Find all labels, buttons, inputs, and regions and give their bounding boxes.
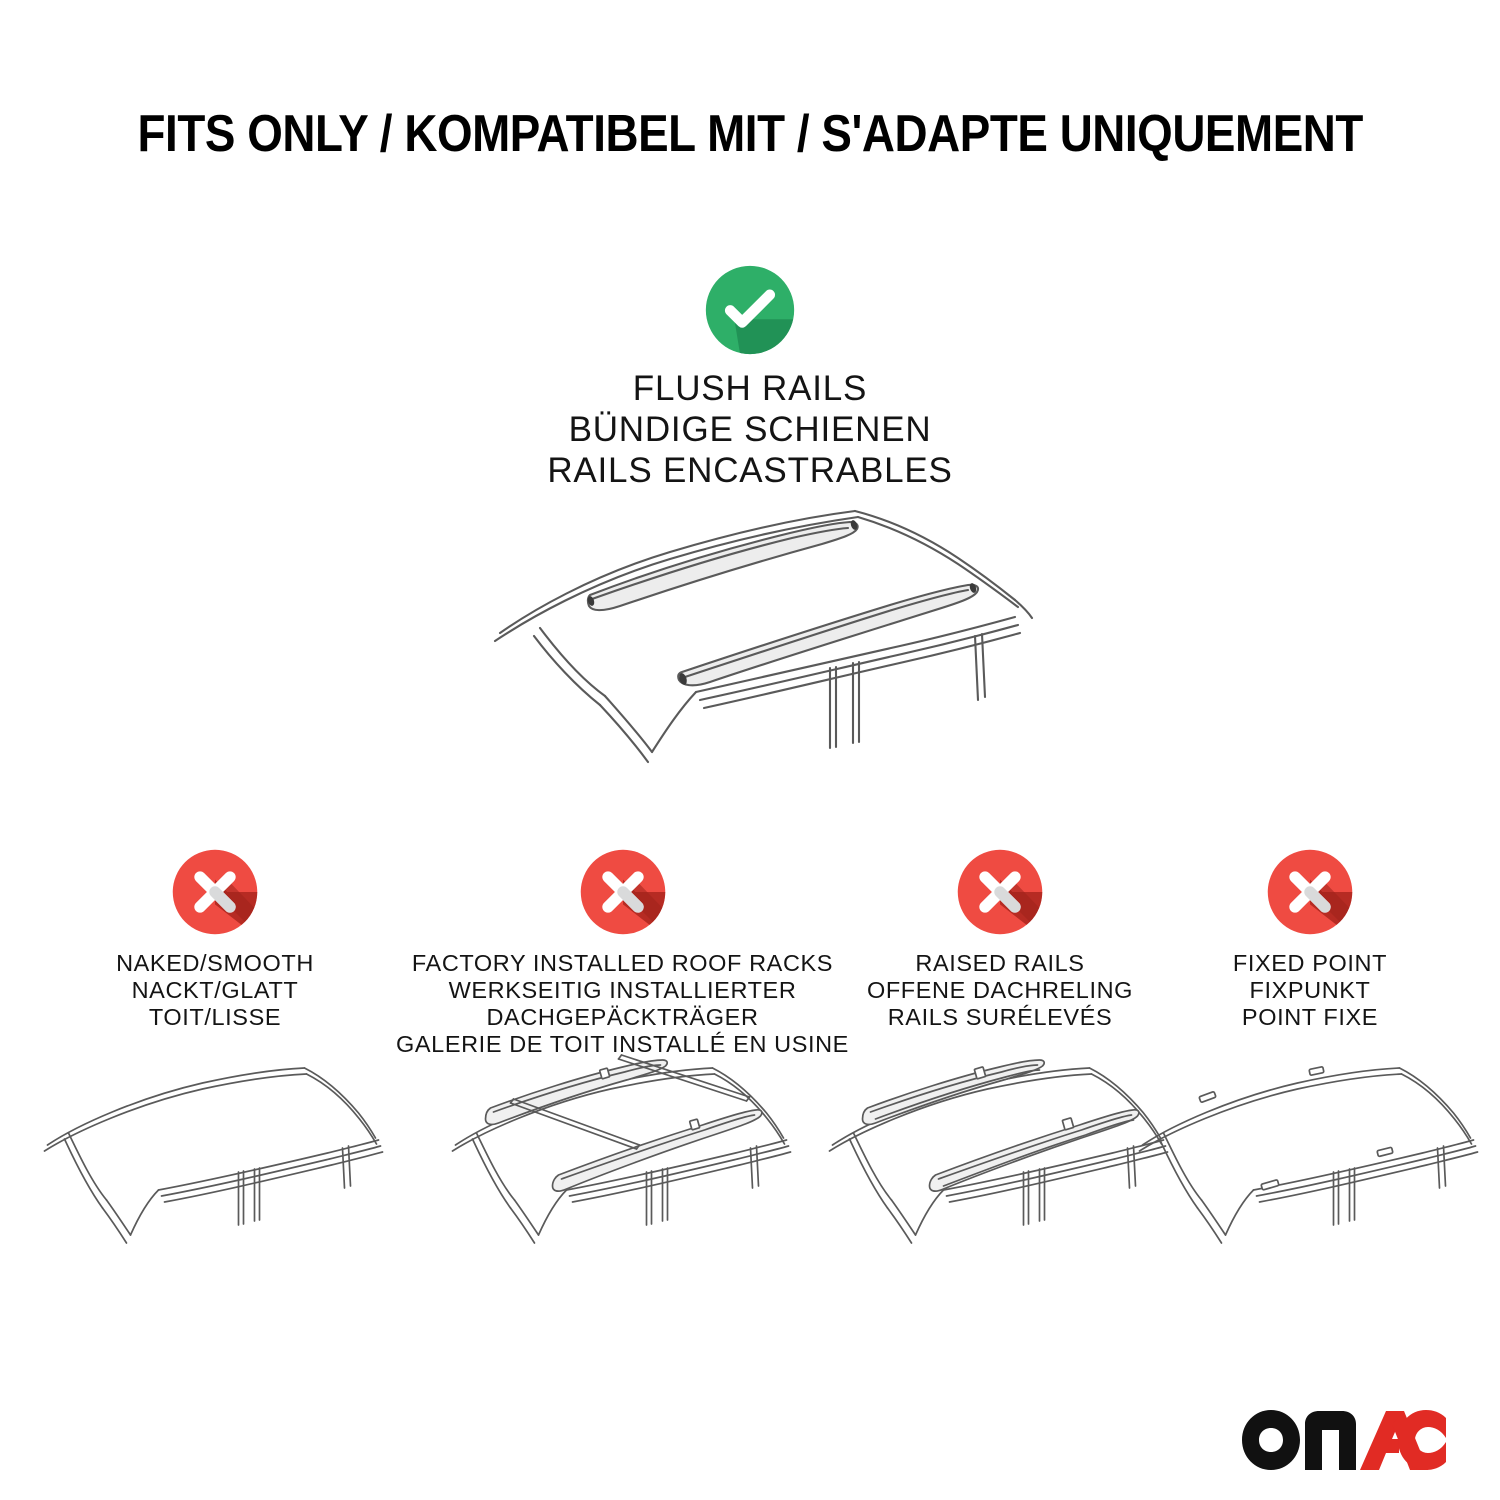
compatible-label-en: FLUSH RAILS: [0, 368, 1500, 409]
car-roof-with-flush-rails-illustration: [470, 500, 1040, 800]
column-label-en: RAISED RAILS: [845, 950, 1155, 977]
car-roof-with-factory-crossbars-illustration: [450, 1053, 795, 1288]
incompatible-section: NAKED/SMOOTH NACKT/GLATT TOIT/LISSE: [0, 848, 1500, 1468]
check-circle-icon: [704, 264, 796, 356]
incompatible-column-naked-smooth: NAKED/SMOOTH NACKT/GLATT TOIT/LISSE: [60, 848, 370, 1031]
compatible-label-de: BÜNDIGE SCHIENEN: [0, 409, 1500, 450]
column-label-de-1: WERKSEITIG INSTALLIERTER: [395, 977, 850, 1004]
column-label-de-2: DACHGEPÄCKTRÄGER: [395, 1004, 850, 1031]
logo-letter-o: [1242, 1410, 1300, 1470]
column-label-fr: RAILS SURÉLEVÉS: [845, 1004, 1155, 1031]
compatible-section: FLUSH RAILS BÜNDIGE SCHIENEN RAILS ENCAS…: [0, 264, 1500, 491]
incompatible-column-factory-roof-racks: FACTORY INSTALLED ROOF RACKS WERKSEITIG …: [395, 848, 850, 1058]
cross-circle-icon: [579, 848, 667, 936]
column-label-fr: TOIT/LISSE: [60, 1004, 370, 1031]
cross-circle-icon: [956, 848, 1044, 936]
column-labels: NAKED/SMOOTH NACKT/GLATT TOIT/LISSE: [60, 950, 370, 1031]
column-label-de: FIXPUNKT: [1165, 977, 1455, 1004]
car-roof-bare-illustration: [43, 1053, 388, 1288]
page-title: FITS ONLY / KOMPATIBEL MIT / S'ADAPTE UN…: [137, 104, 1362, 164]
cross-circle-icon: [171, 848, 259, 936]
column-labels: RAISED RAILS OFFENE DACHRELING RAILS SUR…: [845, 950, 1155, 1031]
omac-logo: [1238, 1406, 1450, 1474]
compatible-labels: FLUSH RAILS BÜNDIGE SCHIENEN RAILS ENCAS…: [0, 368, 1500, 491]
car-roof-fixed-point-illustration: [1138, 1053, 1483, 1288]
column-label-en: FACTORY INSTALLED ROOF RACKS: [395, 950, 850, 977]
column-label-en: FIXED POINT: [1165, 950, 1455, 977]
column-label-de: OFFENE DACHRELING: [845, 977, 1155, 1004]
column-label-en: NAKED/SMOOTH: [60, 950, 370, 977]
car-roof-with-raised-rails-illustration: [828, 1053, 1173, 1288]
compatible-label-fr: RAILS ENCASTRABLES: [0, 450, 1500, 491]
page-header: FITS ONLY / KOMPATIBEL MIT / S'ADAPTE UN…: [0, 104, 1500, 164]
column-label-fr: POINT FIXE: [1165, 1004, 1455, 1031]
incompatible-column-fixed-point: FIXED POINT FIXPUNKT POINT FIXE: [1165, 848, 1455, 1031]
logo-letter-m: [1305, 1411, 1356, 1470]
column-labels: FIXED POINT FIXPUNKT POINT FIXE: [1165, 950, 1455, 1031]
column-label-de: NACKT/GLATT: [60, 977, 370, 1004]
cross-circle-icon: [1266, 848, 1354, 936]
column-labels: FACTORY INSTALLED ROOF RACKS WERKSEITIG …: [395, 950, 850, 1058]
incompatible-column-raised-rails: RAISED RAILS OFFENE DACHRELING RAILS SUR…: [845, 848, 1155, 1031]
